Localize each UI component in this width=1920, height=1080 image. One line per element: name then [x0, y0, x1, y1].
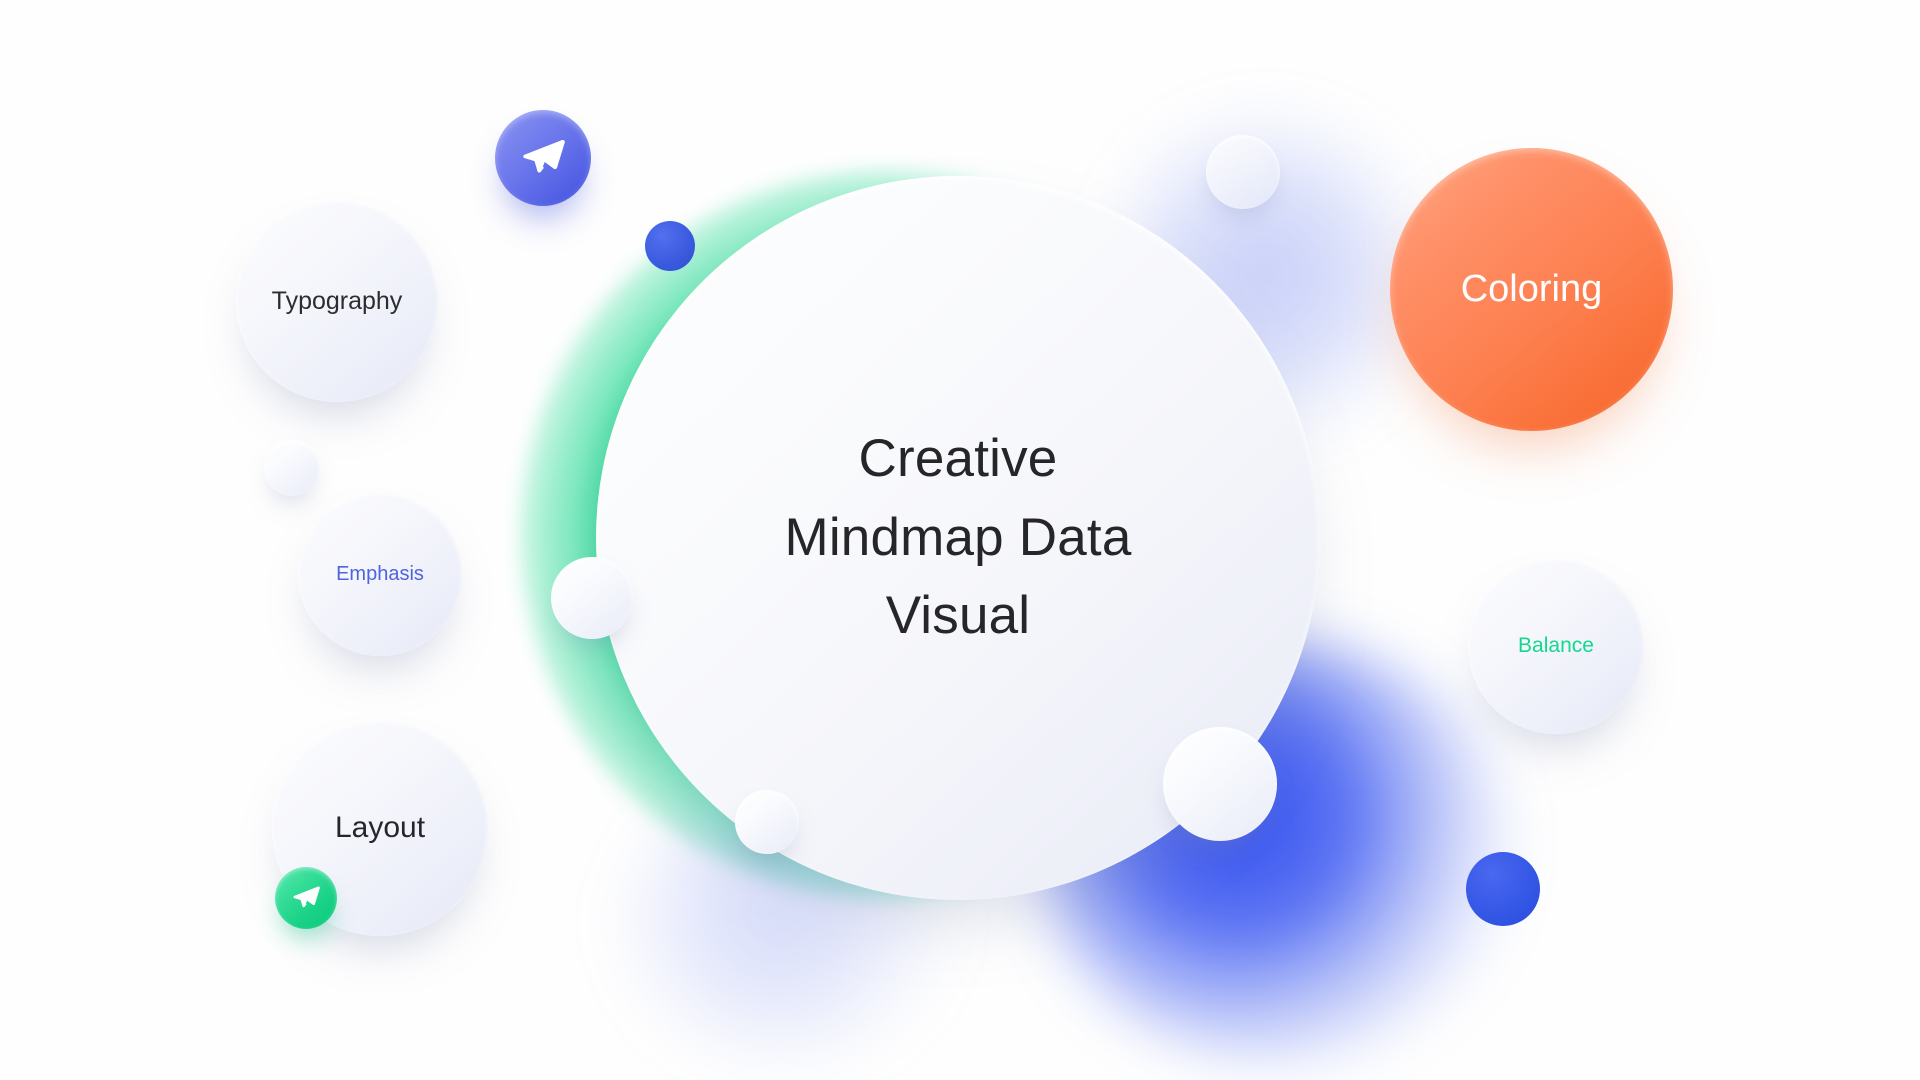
send-icon [292, 884, 320, 912]
node-balance-label: Balance [1518, 634, 1594, 658]
node-layout-label: Layout [335, 811, 425, 845]
decorative-bubble-top-right [1206, 135, 1280, 209]
main-node-label: Creative Mindmap Data Visual [784, 420, 1131, 655]
send-icon-badge-green[interactable] [275, 867, 337, 929]
send-icon [521, 136, 565, 180]
decorative-bubble-bottom-edge [735, 790, 799, 854]
node-coloring-label: Coloring [1461, 268, 1603, 311]
mindmap-canvas: Creative Mindmap Data Visual Typography … [0, 0, 1920, 1080]
decorative-bubble-left-edge [551, 557, 633, 639]
accent-dot-blue-bottom [1466, 852, 1540, 926]
node-typography-label: Typography [272, 287, 403, 316]
node-balance[interactable]: Balance [1468, 558, 1644, 734]
node-coloring[interactable]: Coloring [1390, 148, 1673, 431]
decorative-bubble-left-small [264, 440, 320, 496]
node-typography[interactable]: Typography [236, 200, 438, 402]
node-emphasis[interactable]: Emphasis [298, 492, 462, 656]
send-icon-badge-purple[interactable] [495, 110, 591, 206]
accent-dot-blue-top [645, 221, 695, 271]
decorative-bubble-bottom-right [1163, 727, 1277, 841]
node-emphasis-label: Emphasis [336, 563, 424, 586]
